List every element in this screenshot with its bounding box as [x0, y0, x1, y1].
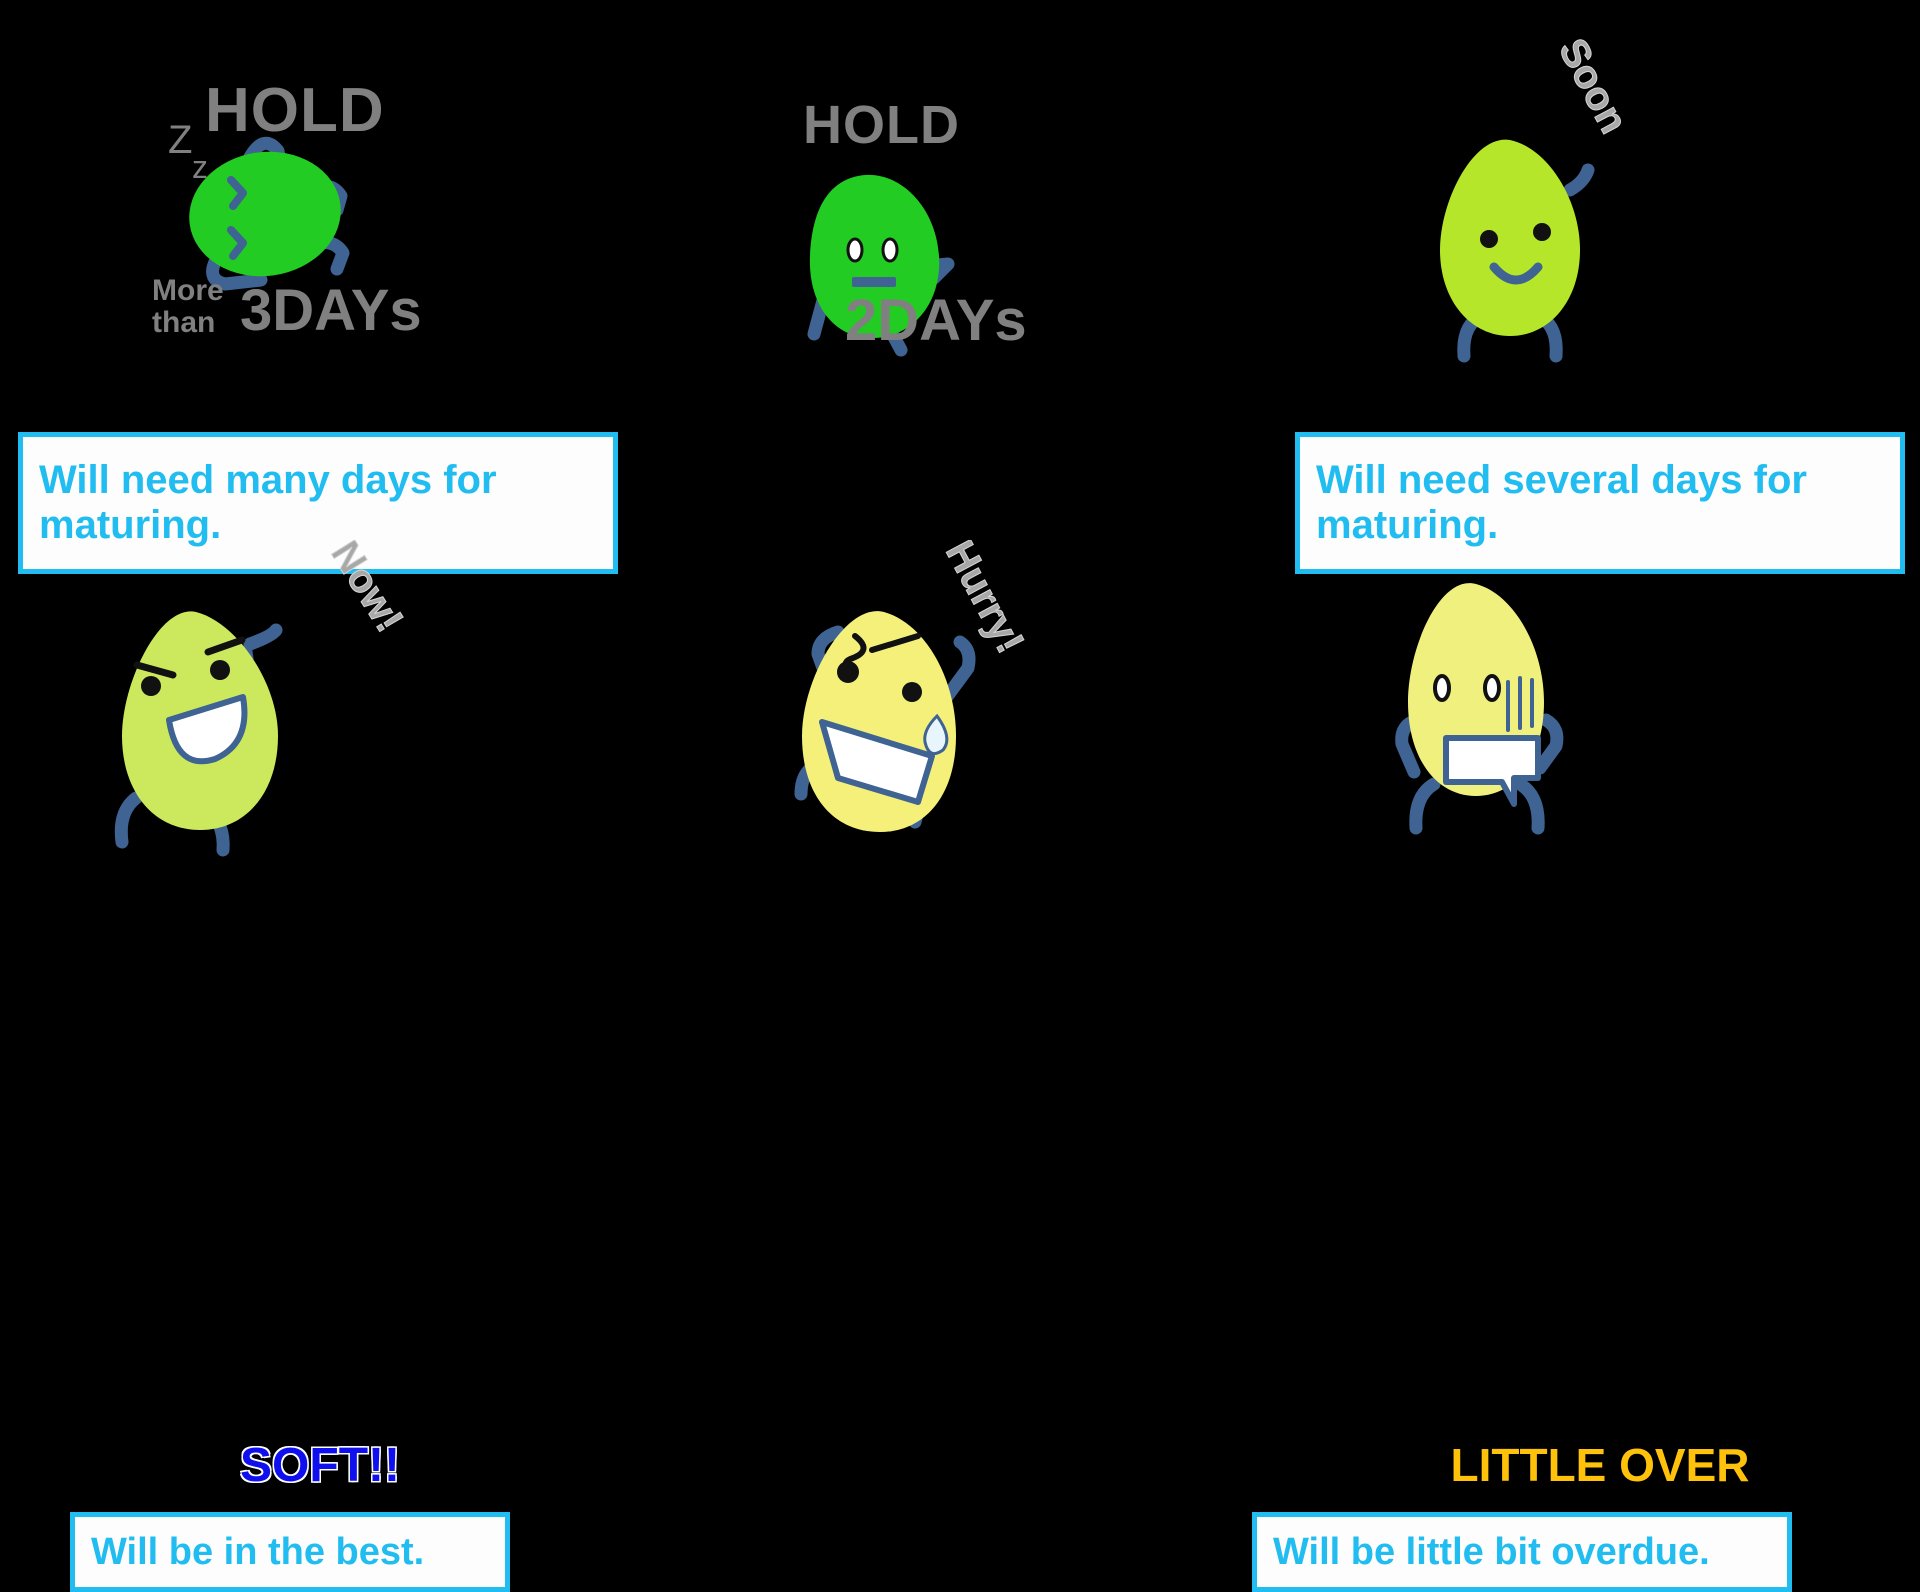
egg-illustration-shocked [1280, 540, 1920, 960]
caption-text: Will be in the best. [81, 1531, 499, 1574]
more-than-line2-text: than [152, 306, 215, 339]
egg-illustration-grinning: Now! [0, 540, 640, 960]
egg-maturity-chart: HOLD Z z z [0, 0, 1920, 1080]
panel-hold-3days: HOLD Z z z [0, 0, 640, 540]
now-tag-text: Now! [322, 540, 411, 640]
panel-hold-2days: HOLD [640, 0, 1280, 540]
hold-label-text: HOLD [803, 95, 960, 155]
egg-illustration-stretching: HOLD [640, 0, 1280, 420]
caption-text: Will need many days for maturing. [29, 458, 607, 548]
caption-text: Will be little bit overdue. [1263, 1531, 1781, 1574]
soon-tag-text: Soon [1550, 32, 1636, 141]
status-label: SOFT!! [0, 1442, 640, 1490]
status-label: LITTLE OVER [1280, 1442, 1920, 1488]
hurry-tag-text: Hurry! [937, 540, 1032, 660]
svg-text:Z: Z [168, 118, 192, 162]
egg-illustration-sleeping: HOLD Z z z [0, 0, 640, 420]
hold-label-text: HOLD [205, 76, 385, 145]
days-label-text: 2DAYs [845, 288, 1027, 353]
panel-overdue: OVERDUE!! Will be overdue. [1280, 540, 1920, 1080]
more-than-line1-text: More [152, 274, 224, 307]
panel-soft: Now! [0, 540, 640, 1080]
caption-box: Will be in the best. [70, 1512, 510, 1592]
egg-illustration-smiling: Soon [1280, 0, 1920, 420]
panel-solid: Soon SOLID!! [1280, 0, 1920, 540]
panel-little-over: Hurry! [640, 540, 1280, 1080]
egg-body [1440, 140, 1580, 336]
egg-illustration-sweating: Hurry! [640, 540, 1280, 960]
days-label-text: 3DAYs [240, 278, 422, 343]
caption-box: Will be little bit overdue. [1252, 1512, 1792, 1592]
